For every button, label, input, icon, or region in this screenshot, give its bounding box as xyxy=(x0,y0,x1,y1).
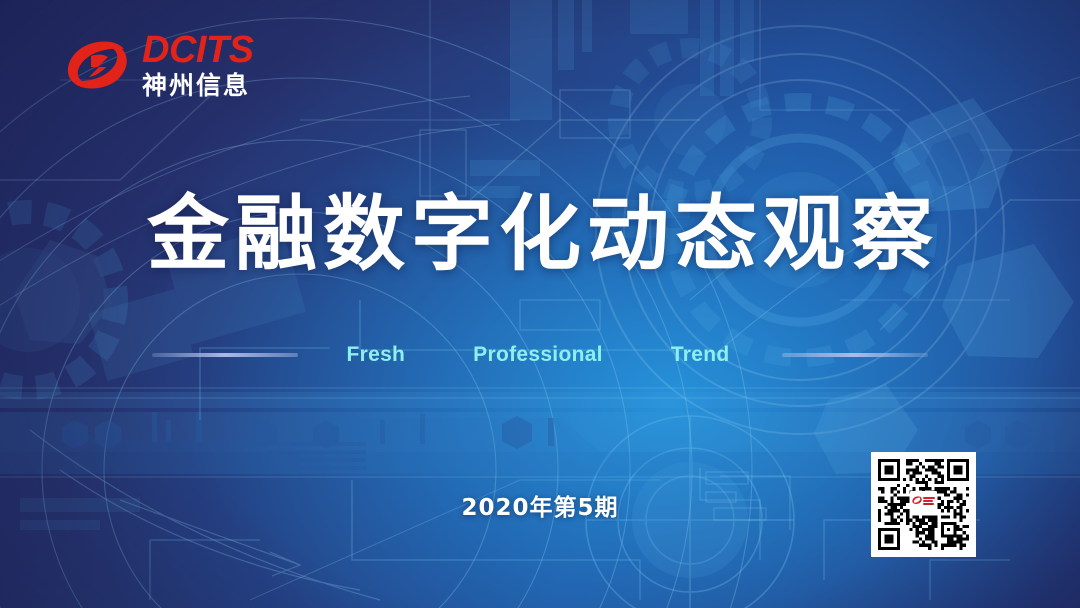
dcits-logo: DCITS 神州信息 xyxy=(66,28,281,108)
wechat-qr-code[interactable] xyxy=(871,452,976,557)
tagline-rule-left xyxy=(152,353,298,357)
tagline-fresh: Fresh xyxy=(346,343,405,367)
qr-center-swirl-icon xyxy=(912,495,922,506)
tagline-row: Fresh Professional Trend xyxy=(0,340,1080,370)
logo-wordmark: DCITS 神州信息 xyxy=(142,30,282,101)
logo-name-en: DCITS xyxy=(142,30,282,70)
qr-center-logo-text xyxy=(923,497,935,506)
tagline-professional: Professional xyxy=(473,343,603,367)
qr-center-logo xyxy=(910,491,937,511)
dcits-swirl-logo-icon xyxy=(66,36,128,98)
tagline-trend: Trend xyxy=(671,343,730,367)
page-title: 金融数字化动态观察 xyxy=(0,186,1080,284)
tagline-rule-right xyxy=(782,353,928,357)
logo-name-cn: 神州信息 xyxy=(142,71,282,101)
title-slide: DCITS 神州信息 金融数字化动态观察 Fresh Professional … xyxy=(0,0,1080,608)
